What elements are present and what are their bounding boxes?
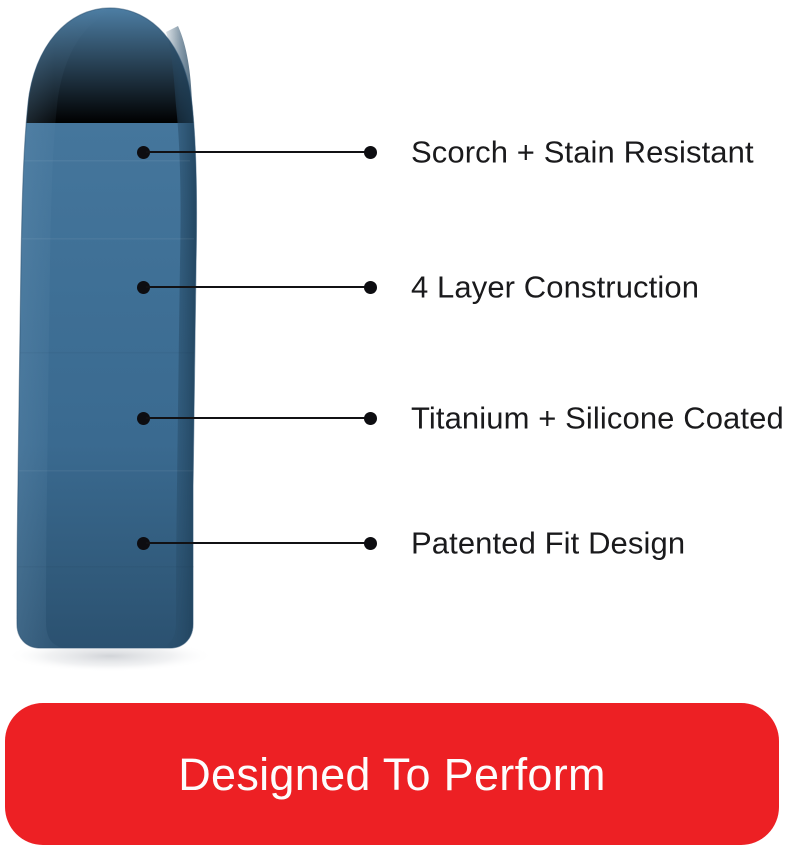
callout-end-dot-1 (364, 146, 377, 159)
callout-end-dot-4 (364, 537, 377, 550)
banner-text: Designed To Perform (178, 752, 606, 797)
callout-end-dot-3 (364, 412, 377, 425)
feature-label-4-layer-construction: 4 Layer Construction (411, 272, 699, 303)
designed-to-perform-banner: Designed To Perform (5, 703, 779, 845)
callout-end-dot-2 (364, 281, 377, 294)
feature-label-patented-fit-design: Patented Fit Design (411, 528, 685, 559)
ironing-board-cover-illustration (0, 0, 330, 700)
product-feature-infographic: Scorch + Stain Resistant 4 Layer Constru… (0, 0, 790, 859)
product-image (0, 0, 330, 700)
feature-label-titanium-silicone-coated: Titanium + Silicone Coated (411, 403, 784, 434)
feature-label-scorch-stain-resistant: Scorch + Stain Resistant (411, 137, 754, 168)
